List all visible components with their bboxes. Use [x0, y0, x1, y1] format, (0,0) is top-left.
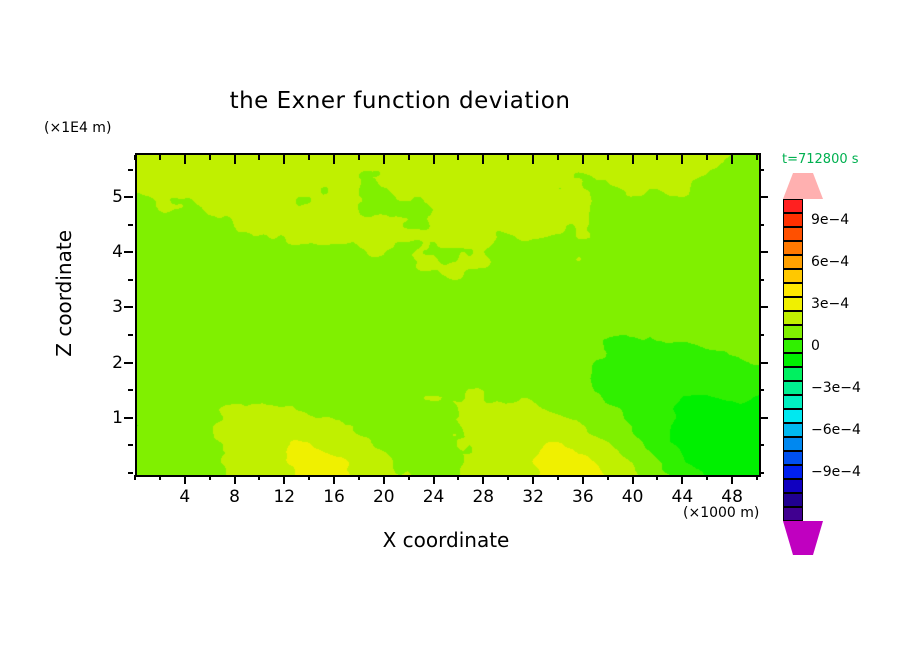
y-axis-tick [124, 417, 133, 419]
y-axis-tick-label: 1 [103, 408, 123, 428]
x-axis-minor-tick [308, 475, 310, 480]
timestamp-label: t=712800 s [782, 152, 859, 167]
x-axis-tick-label: 16 [323, 487, 345, 507]
y-axis-title: Z coordinate [52, 230, 76, 357]
x-axis-tick [283, 475, 285, 484]
colorbar-tick-label: 6e−4 [811, 254, 849, 270]
x-axis-tick-top [184, 155, 186, 164]
colorbar-band [783, 297, 803, 311]
x-axis-tick [433, 475, 435, 484]
colorbar-band [783, 507, 803, 521]
y-axis-tick-label: 5 [103, 187, 123, 207]
y-axis-tick-right [759, 251, 768, 253]
x-axis-minor-tick [507, 475, 509, 480]
y-axis-minor-tick [128, 224, 133, 226]
colorbar-tick-label: −9e−4 [811, 464, 861, 480]
x-axis-minor-tick [209, 475, 211, 480]
y-axis-minor-tick [128, 334, 133, 336]
colorbar-tick-label: 0 [811, 338, 820, 354]
x-axis-tick [482, 475, 484, 484]
x-axis-minor-tick-top [457, 155, 459, 160]
x-axis-tick-top [731, 155, 733, 164]
x-axis-tick-label: 8 [229, 487, 240, 507]
y-axis-tick-right [759, 417, 768, 419]
x-axis-minor-tick [756, 475, 758, 480]
colorbar-band [783, 353, 803, 367]
y-axis-tick-right [759, 196, 768, 198]
x-axis-minor-tick-top [656, 155, 658, 160]
x-axis-unit-label: (×1000 m) [683, 505, 759, 521]
x-axis-tick [184, 475, 186, 484]
colorbar-band [783, 409, 803, 423]
x-axis-minor-tick [557, 475, 559, 480]
colorbar-band [783, 269, 803, 283]
x-axis-minor-tick-top [258, 155, 260, 160]
x-axis-tick-label: 20 [373, 487, 395, 507]
y-axis-minor-tick-right [759, 389, 764, 391]
colorbar-band [783, 199, 803, 213]
y-axis-minor-tick-right [759, 334, 764, 336]
x-axis-tick [731, 475, 733, 484]
page-title: the Exner function deviation [0, 88, 800, 114]
y-axis-minor-tick-right [759, 224, 764, 226]
x-axis-tick-top [482, 155, 484, 164]
y-axis-tick-right [759, 362, 768, 364]
colorbar-band [783, 367, 803, 381]
x-axis-minor-tick-top [134, 155, 136, 160]
x-axis-tick-label: 32 [522, 487, 544, 507]
x-axis-minor-tick [706, 475, 708, 480]
colorbar-tick-label: 9e−4 [811, 212, 849, 228]
x-axis-tick [333, 475, 335, 484]
colorbar-band [783, 255, 803, 269]
x-axis-minor-tick [656, 475, 658, 480]
x-axis-minor-tick-top [706, 155, 708, 160]
x-axis-tick-top [234, 155, 236, 164]
y-axis-minor-tick-right [759, 444, 764, 446]
y-axis-minor-tick [128, 389, 133, 391]
x-axis-tick-label: 44 [672, 487, 694, 507]
x-axis-tick-label: 40 [622, 487, 644, 507]
colorbar-bottom-cap [783, 521, 823, 555]
x-axis-minor-tick [358, 475, 360, 480]
x-axis-tick-top [632, 155, 634, 164]
x-axis-tick-top [283, 155, 285, 164]
x-axis-minor-tick-top [159, 155, 161, 160]
x-axis-tick-label: 48 [721, 487, 743, 507]
x-axis-tick-top [681, 155, 683, 164]
x-axis-minor-tick-top [607, 155, 609, 160]
y-axis-minor-tick-right [759, 169, 764, 171]
x-axis-tick-top [333, 155, 335, 164]
colorbar-band [783, 465, 803, 479]
colorbar-band [783, 213, 803, 227]
x-axis-tick-label: 28 [472, 487, 494, 507]
x-axis-minor-tick [159, 475, 161, 480]
x-axis-tick [582, 475, 584, 484]
colorbar-band [783, 437, 803, 451]
colorbar-top-cap [783, 173, 823, 199]
x-axis-tick-label: 12 [273, 487, 295, 507]
x-axis-tick-top [532, 155, 534, 164]
colorbar-band [783, 493, 803, 507]
x-axis-minor-tick-top [557, 155, 559, 160]
colorbar-band [783, 451, 803, 465]
y-axis-minor-tick-right [759, 279, 764, 281]
x-axis-minor-tick-top [209, 155, 211, 160]
y-axis-tick-label: 2 [103, 353, 123, 373]
colorbar-band [783, 479, 803, 493]
x-axis-minor-tick-top [308, 155, 310, 160]
y-axis-tick [124, 251, 133, 253]
x-axis-tick [383, 475, 385, 484]
y-axis-tick [124, 196, 133, 198]
colorbar-band [783, 325, 803, 339]
x-axis-minor-tick-top [756, 155, 758, 160]
x-axis-tick-top [582, 155, 584, 164]
y-axis-tick-right [759, 306, 768, 308]
colorbar-band [783, 283, 803, 297]
colorbar-band [783, 381, 803, 395]
x-axis-tick-top [383, 155, 385, 164]
y-axis-tick [124, 306, 133, 308]
contour-field-canvas [137, 155, 759, 475]
x-axis-tick [681, 475, 683, 484]
x-axis-minor-tick [258, 475, 260, 480]
colorbar-tick-label: 3e−4 [811, 296, 849, 312]
colorbar-tick-label: −6e−4 [811, 422, 861, 438]
x-axis-tick [234, 475, 236, 484]
x-axis-minor-tick [408, 475, 410, 480]
y-axis-minor-tick [128, 472, 133, 474]
z-axis-unit-label: (×1E4 m) [44, 120, 111, 136]
y-axis-tick-label: 4 [103, 242, 123, 262]
x-axis-minor-tick-top [507, 155, 509, 160]
y-axis-minor-tick [128, 444, 133, 446]
colorbar-band [783, 241, 803, 255]
colorbar-band [783, 311, 803, 325]
x-axis-tick [632, 475, 634, 484]
x-axis-minor-tick [457, 475, 459, 480]
x-axis-minor-tick [134, 475, 136, 480]
y-axis-tick-label: 3 [103, 297, 123, 317]
y-axis-minor-tick [128, 169, 133, 171]
colorbar-band [783, 423, 803, 437]
colorbar-band [783, 395, 803, 409]
x-axis-tick [532, 475, 534, 484]
y-axis-minor-tick-right [759, 472, 764, 474]
x-axis-minor-tick-top [358, 155, 360, 160]
colorbar-band [783, 227, 803, 241]
y-axis-tick [124, 362, 133, 364]
y-axis-minor-tick [128, 279, 133, 281]
x-axis-tick-label: 4 [179, 487, 190, 507]
x-axis-tick-top [433, 155, 435, 164]
contour-plot-area [135, 153, 761, 477]
x-axis-tick-label: 36 [572, 487, 594, 507]
colorbar-band [783, 339, 803, 353]
x-axis-minor-tick [607, 475, 609, 480]
x-axis-minor-tick-top [408, 155, 410, 160]
colorbar-tick-label: −3e−4 [811, 380, 861, 396]
x-axis-tick-label: 24 [423, 487, 445, 507]
x-axis-title: X coordinate [135, 528, 757, 552]
